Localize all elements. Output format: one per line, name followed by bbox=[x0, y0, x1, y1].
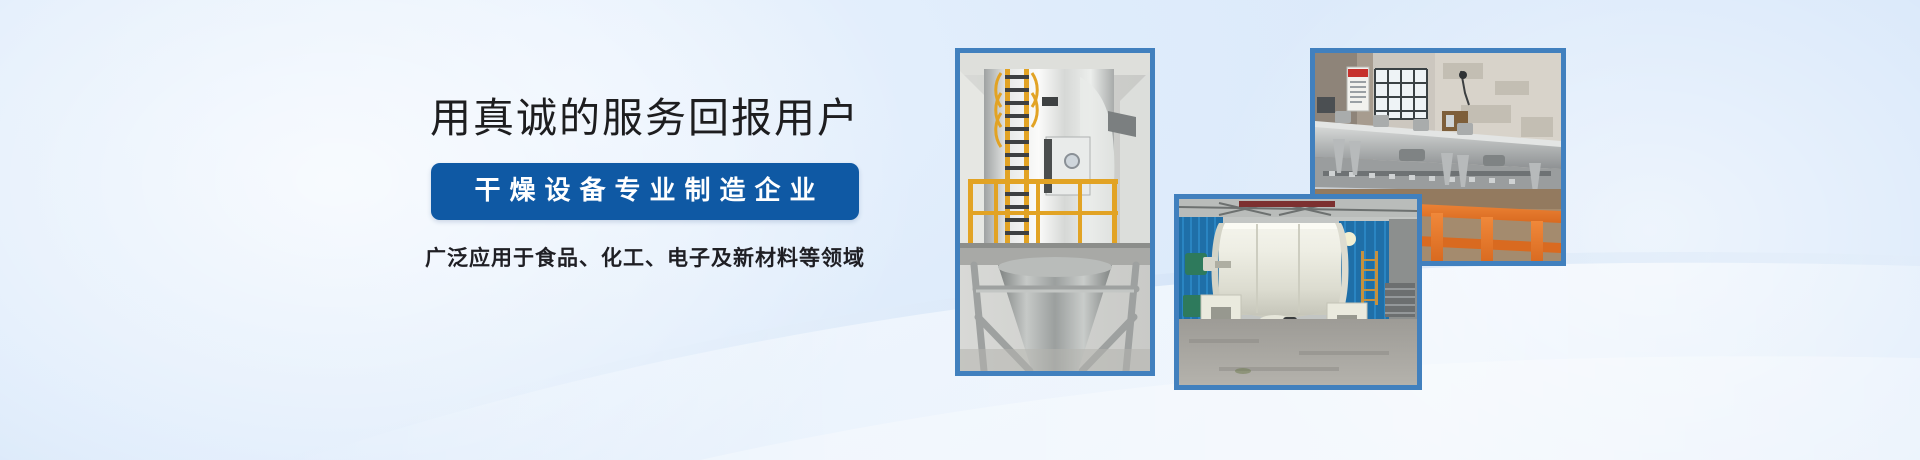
photo-ribbon-mixer[interactable] bbox=[1174, 194, 1422, 390]
page-subtitle: 广泛应用于食品、化工、电子及新材料等领域 bbox=[300, 246, 990, 271]
status-badge-label: 干燥设备专业制造企业 bbox=[465, 176, 824, 205]
hero-text-block: 用真诚的服务回报用户 干燥设备专业制造企业 广泛应用于食品、化工、电子及新材料等… bbox=[300, 96, 990, 271]
hero-banner: 用真诚的服务回报用户 干燥设备专业制造企业 广泛应用于食品、化工、电子及新材料等… bbox=[0, 0, 1920, 460]
page-title: 用真诚的服务回报用户 bbox=[300, 96, 990, 141]
photo-spray-dryer-image bbox=[960, 53, 1150, 371]
photo-spray-dryer-tower[interactable] bbox=[955, 48, 1155, 376]
status-badge: 干燥设备专业制造企业 bbox=[431, 163, 858, 220]
photo-ribbon-mixer-image bbox=[1179, 199, 1417, 385]
